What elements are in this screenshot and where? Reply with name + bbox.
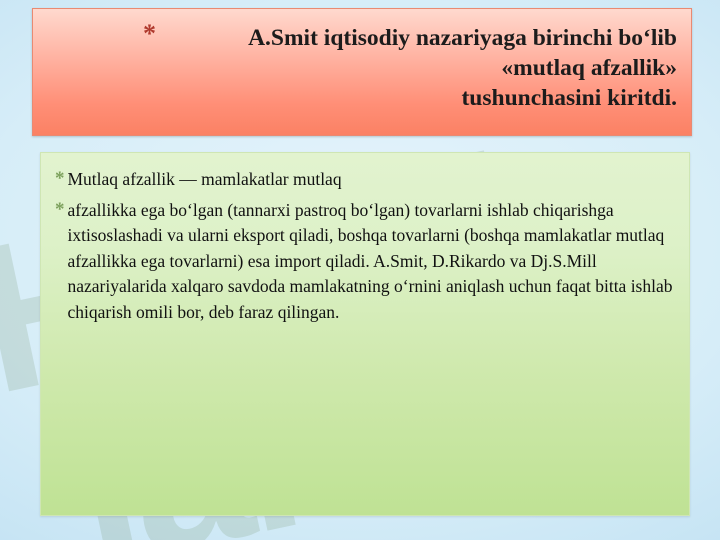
bullet-icon: * <box>51 198 68 221</box>
title-box: * A.Smit iqtisodiy nazariyaga birinchi b… <box>32 8 692 136</box>
title-text: * A.Smit iqtisodiy nazariyaga birinchi b… <box>33 9 691 113</box>
title-line-2: «mutlaq afzallik» <box>51 53 677 83</box>
body-paragraph-text: afzallikka ega bo‘lgan (tannarxi pastroq… <box>68 198 674 326</box>
title-line-3: tushunchasini kiritdi. <box>51 83 677 113</box>
body-box: * Mutlaq afzallik — mamlakatlar mutlaq *… <box>40 152 690 516</box>
body-paragraph: * afzallikka ega bo‘lgan (tannarxi pastr… <box>51 198 673 326</box>
body-paragraph-text: Mutlaq afzallik — mamlakatlar mutlaq <box>68 167 674 193</box>
body-content: * Mutlaq afzallik — mamlakatlar mutlaq *… <box>41 153 689 325</box>
bullet-icon: * <box>51 167 68 190</box>
body-paragraph: * Mutlaq afzallik — mamlakatlar mutlaq <box>51 167 673 193</box>
slide: Hujjat lar * A.Smit iqtisodiy nazariyaga… <box>0 0 720 540</box>
title-bullet-icon: * <box>143 19 156 49</box>
